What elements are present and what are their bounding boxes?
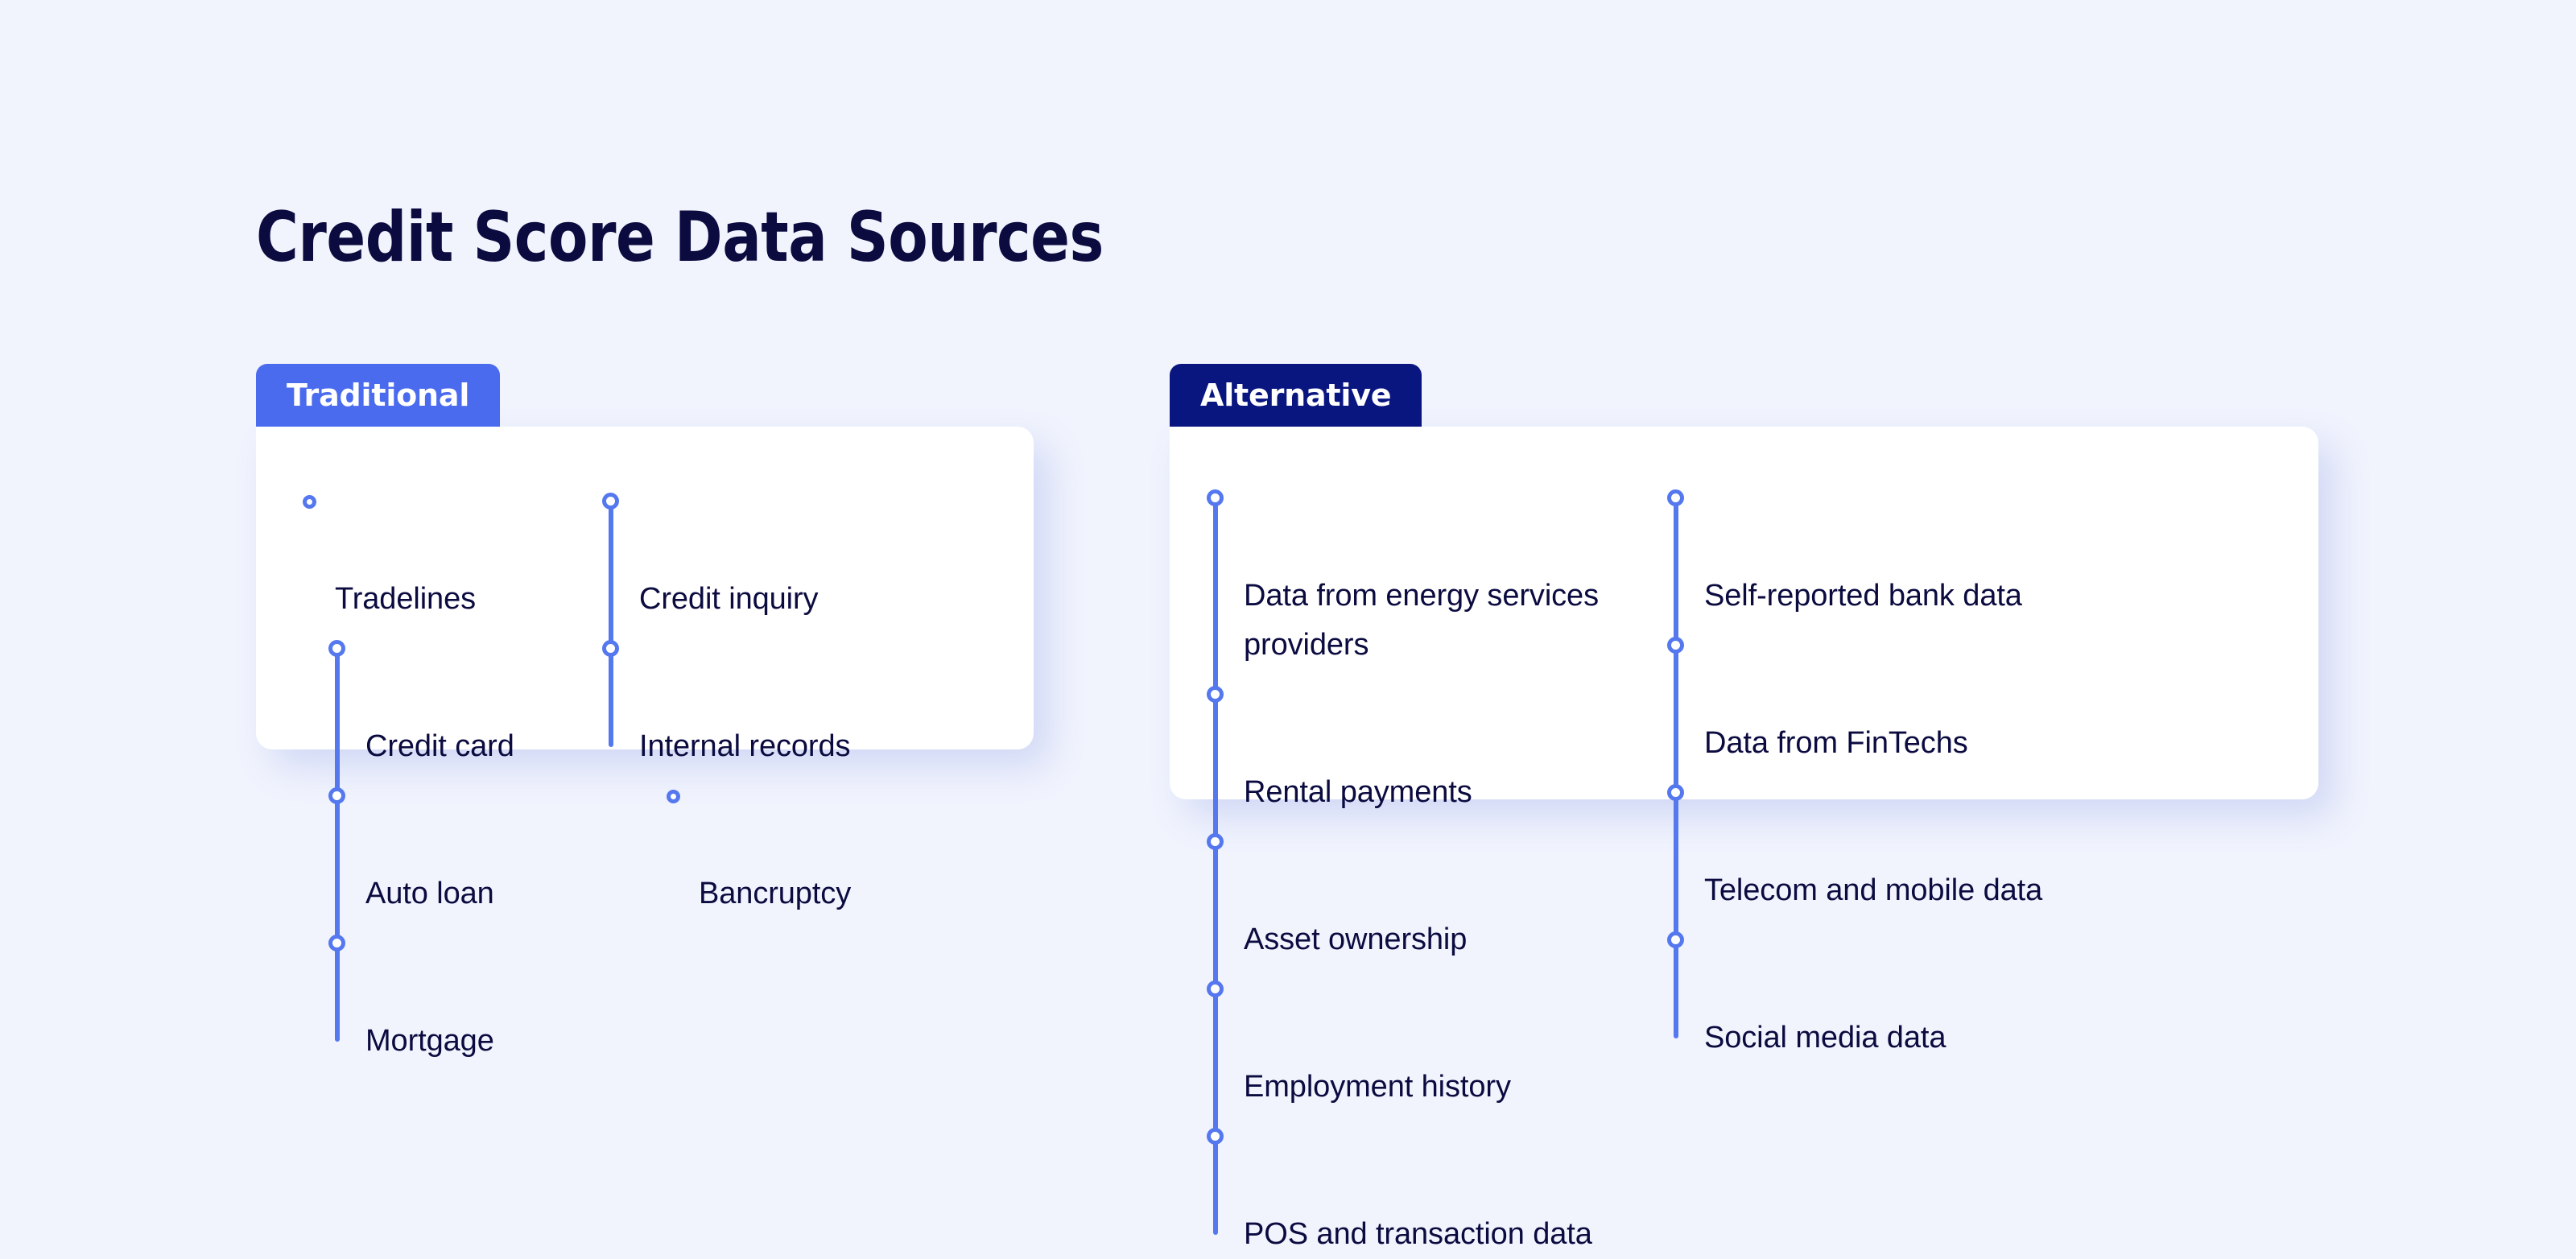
list-item-label: Bancruptcy	[699, 877, 851, 910]
bullet-ring-icon	[1207, 980, 1224, 997]
list-item[interactable]: Employment history	[1244, 964, 1667, 1112]
bullet-ring-icon	[602, 493, 619, 510]
card-traditional: Tradelines Credit card Auto loan	[256, 427, 1034, 749]
traditional-columns: Tradelines Credit card Auto loan	[298, 477, 868, 1066]
list-item[interactable]: Telecom and mobile data	[1704, 768, 2134, 915]
alternative-columns: Data from energy services providers Rent…	[1207, 473, 2134, 1259]
list-item-label: POS and transaction data	[1244, 1217, 1592, 1251]
tab-traditional[interactable]: Traditional	[256, 364, 500, 427]
list-item-label: Internal records	[639, 729, 850, 763]
list-item-label: Telecom and mobile data	[1704, 873, 2042, 907]
list-group: Tradelines	[298, 477, 602, 624]
list-item-label: Mortgage	[365, 1024, 494, 1058]
bullet-ring-icon	[1667, 784, 1684, 801]
tab-alternative[interactable]: Alternative	[1170, 364, 1422, 427]
list-group: Credit inquiry Internal records	[602, 477, 868, 771]
list-item-label: Auto loan	[365, 877, 494, 910]
list-item-label: Rental payments	[1244, 775, 1472, 809]
list-group: Data from energy services providers Rent…	[1207, 473, 1667, 1259]
list-item-label: Asset ownership	[1244, 923, 1467, 956]
page-title: Credit Score Data Sources	[256, 201, 1104, 274]
connector-line	[1213, 497, 1218, 1235]
list-item-label: Tradelines	[335, 582, 476, 616]
list-item-label: Employment history	[1244, 1070, 1511, 1104]
list-item[interactable]: Credit inquiry	[639, 477, 868, 624]
list-item-label: Credit card	[365, 729, 514, 763]
connector-line	[609, 501, 613, 747]
alternative-column-1: Data from energy services providers Rent…	[1207, 473, 1667, 1259]
bullet-ring-icon	[667, 790, 680, 803]
bullet-ring-icon	[1667, 931, 1684, 948]
bullet-ring-icon	[1207, 1128, 1224, 1145]
infographic-canvas: Credit Score Data Sources Traditional Tr…	[0, 0, 2576, 1022]
list-item[interactable]: Tradelines	[335, 477, 602, 624]
list-item[interactable]: Social media data	[1704, 915, 2134, 1063]
list-item[interactable]: Bancruptcy	[699, 771, 868, 918]
list-item[interactable]: Mortgage	[365, 918, 602, 1066]
bullet-ring-icon	[328, 640, 345, 657]
card-alternative: Data from energy services providers Rent…	[1170, 427, 2318, 799]
bullet-ring-icon	[1667, 489, 1684, 506]
bullet-ring-icon	[303, 495, 316, 509]
list-item-label: Social media data	[1704, 1021, 1946, 1055]
list-item-label: Self-reported bank data	[1704, 579, 2022, 613]
list-item-label: Data from energy services providers	[1244, 579, 1599, 662]
list-item[interactable]: Self-reported bank data	[1704, 473, 2134, 621]
connector-line	[1674, 497, 1678, 1038]
list-item[interactable]: POS and transaction data	[1244, 1112, 1667, 1259]
traditional-column-2: Credit inquiry Internal records Bancrupt…	[602, 477, 868, 918]
bullet-ring-icon	[1207, 489, 1224, 506]
list-item[interactable]: Auto loan	[365, 771, 602, 918]
bullet-ring-icon	[328, 787, 345, 804]
list-item[interactable]: Credit card	[365, 624, 602, 771]
list-item[interactable]: Data from FinTechs	[1704, 621, 2134, 768]
traditional-column-1: Tradelines Credit card Auto loan	[298, 477, 602, 1066]
bullet-ring-icon	[1667, 637, 1684, 654]
list-item-label: Credit inquiry	[639, 582, 818, 616]
list-group: Credit card Auto loan Mortgage	[328, 624, 602, 1066]
alternative-column-2: Self-reported bank data Data from FinTec…	[1667, 473, 2134, 1063]
list-group: Self-reported bank data Data from FinTec…	[1667, 473, 2134, 1063]
bullet-ring-icon	[1207, 833, 1224, 850]
bullet-ring-icon	[1207, 686, 1224, 703]
bullet-ring-icon	[602, 640, 619, 657]
list-item[interactable]: Asset ownership	[1244, 817, 1667, 964]
list-item[interactable]: Internal records	[639, 624, 868, 771]
connector-line	[335, 648, 340, 1042]
list-item-label: Data from FinTechs	[1704, 726, 1968, 760]
list-item[interactable]: Data from energy services providers	[1244, 473, 1667, 670]
list-group: Bancruptcy	[662, 771, 868, 918]
list-item[interactable]: Rental payments	[1244, 670, 1667, 817]
bullet-ring-icon	[328, 935, 345, 951]
